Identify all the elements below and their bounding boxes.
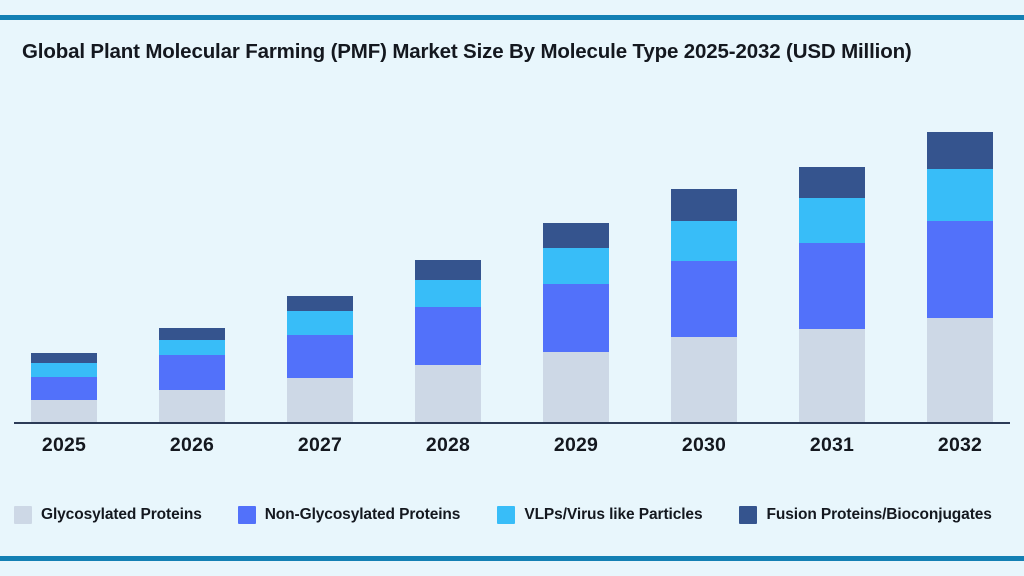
bar-group [0,96,1024,422]
bar-segment[interactable] [799,243,865,328]
bar-segment[interactable] [31,377,97,400]
top-accent-rule [0,15,1024,20]
chart-legend: Glycosylated ProteinsNon-Glycosylated Pr… [14,506,1014,524]
bar-slot [0,96,128,422]
bar-segment[interactable] [287,296,353,311]
legend-label: Fusion Proteins/Bioconjugates [766,506,991,524]
bottom-accent-rule [0,556,1024,561]
bar-slot [768,96,896,422]
chart-page: Global Plant Molecular Farming (PMF) Mar… [0,0,1024,576]
bar-slot [256,96,384,422]
bar-slot [640,96,768,422]
legend-swatch-icon [14,506,32,524]
bar-segment[interactable] [159,328,225,340]
x-axis-label-2032: 2032 [896,434,1024,457]
x-axis-label-2031: 2031 [768,434,896,457]
stacked-bar[interactable] [287,296,353,422]
legend-item[interactable]: Glycosylated Proteins [14,506,202,524]
bar-segment[interactable] [287,335,353,378]
bar-segment[interactable] [671,221,737,261]
bar-segment[interactable] [31,353,97,363]
x-axis-tick-labels: 20252026202720282029203020312032 [0,434,1024,457]
bar-segment[interactable] [799,329,865,422]
bar-segment[interactable] [671,189,737,221]
bar-segment[interactable] [287,378,353,422]
bar-segment[interactable] [799,198,865,243]
bar-segment[interactable] [927,318,993,422]
x-axis-label-2030: 2030 [640,434,768,457]
bar-segment[interactable] [415,260,481,279]
legend-swatch-icon [238,506,256,524]
bar-slot [384,96,512,422]
x-axis-label-2029: 2029 [512,434,640,457]
bar-slot [512,96,640,422]
legend-label: Non-Glycosylated Proteins [265,506,461,524]
x-axis-line [14,422,1010,424]
bar-segment[interactable] [671,337,737,422]
bar-segment[interactable] [415,365,481,422]
bar-segment[interactable] [543,248,609,283]
legend-label: VLPs/Virus like Particles [524,506,702,524]
bar-slot [896,96,1024,422]
legend-swatch-icon [497,506,515,524]
bar-segment[interactable] [31,400,97,422]
chart-title: Global Plant Molecular Farming (PMF) Mar… [22,40,1012,64]
legend-label: Glycosylated Proteins [41,506,202,524]
x-axis-label-2027: 2027 [256,434,384,457]
bar-segment[interactable] [927,221,993,317]
bar-segment[interactable] [31,363,97,377]
bar-segment[interactable] [927,132,993,169]
plot-area [0,96,1024,423]
bar-segment[interactable] [159,355,225,390]
stacked-bar[interactable] [671,189,737,422]
legend-item[interactable]: Fusion Proteins/Bioconjugates [739,506,991,524]
bar-segment[interactable] [415,307,481,365]
stacked-bar[interactable] [543,223,609,422]
legend-swatch-icon [739,506,757,524]
legend-item[interactable]: VLPs/Virus like Particles [497,506,702,524]
bar-slot [128,96,256,422]
x-axis-label-2028: 2028 [384,434,512,457]
bar-segment[interactable] [159,390,225,422]
stacked-bar[interactable] [415,260,481,422]
bar-segment[interactable] [287,311,353,335]
stacked-bar[interactable] [799,167,865,422]
stacked-bar[interactable] [159,328,225,422]
bar-segment[interactable] [415,280,481,307]
bar-segment[interactable] [543,223,609,248]
stacked-bar[interactable] [31,353,97,422]
bar-segment[interactable] [799,167,865,198]
bar-segment[interactable] [543,352,609,422]
x-axis-label-2025: 2025 [0,434,128,457]
bar-segment[interactable] [927,169,993,221]
bar-segment[interactable] [671,261,737,336]
bar-segment[interactable] [543,284,609,352]
bar-segment[interactable] [159,340,225,355]
stacked-bar[interactable] [927,132,993,422]
legend-item[interactable]: Non-Glycosylated Proteins [238,506,461,524]
x-axis-label-2026: 2026 [128,434,256,457]
